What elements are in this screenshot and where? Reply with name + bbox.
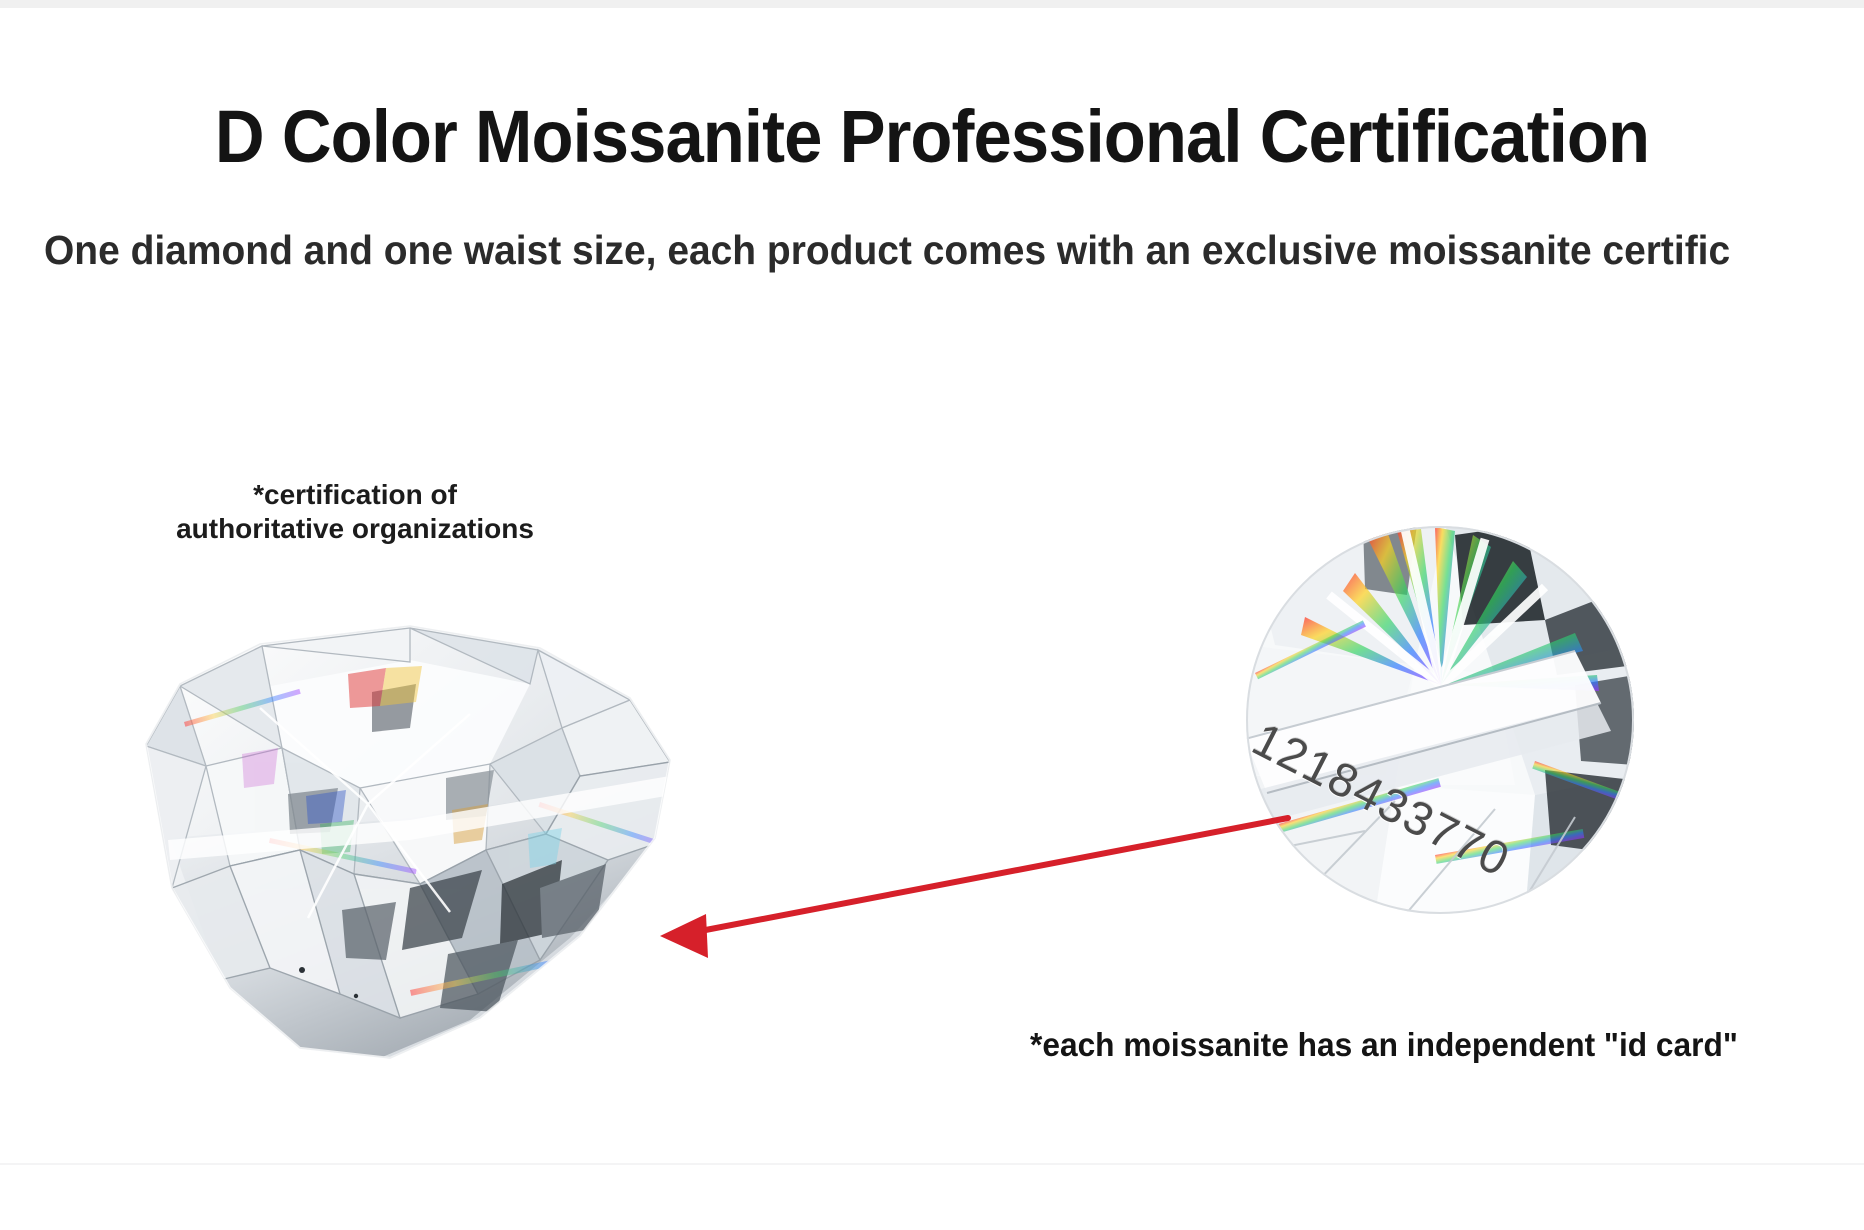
diamond-image <box>110 588 740 1100</box>
certification-label: *certification of authoritative organiza… <box>155 478 555 546</box>
diamond-illustration <box>110 588 740 1100</box>
certification-banner: D Color Moissanite Professional Certific… <box>0 0 1864 1230</box>
certification-label-line-1: *certification of <box>155 478 555 512</box>
top-band <box>0 0 1864 8</box>
page-title: D Color Moissanite Professional Certific… <box>65 100 1799 174</box>
magnified-girdle-illustration <box>1245 525 1635 915</box>
page-subtitle: One diamond and one waist size, each pro… <box>44 228 1864 273</box>
magnifier-circle: 1218433770 <box>1245 525 1635 915</box>
certification-label-line-2: authoritative organizations <box>155 512 555 546</box>
bottom-rule <box>0 1163 1864 1165</box>
connector-line <box>690 818 1288 933</box>
id-card-label: *each moissanite has an independent "id … <box>1030 1026 1738 1064</box>
